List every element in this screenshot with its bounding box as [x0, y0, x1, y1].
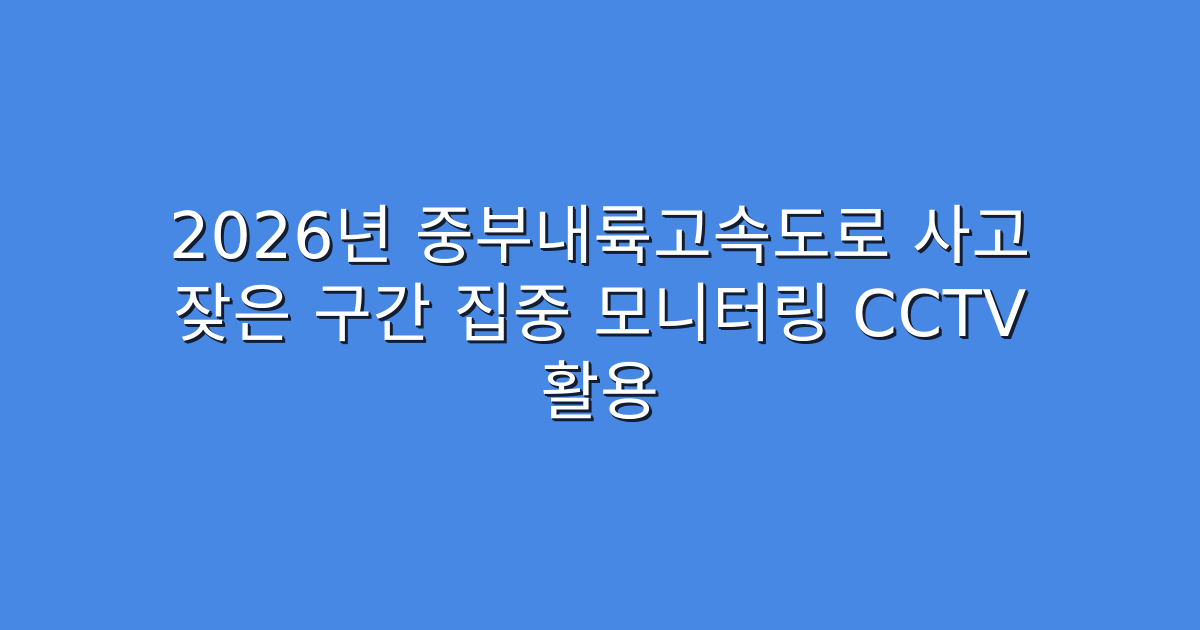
share-card: 2026년 중부내륙고속도로 사고 잦은 구간 집중 모니터링 CCTV 활용 — [0, 0, 1200, 630]
page-title: 2026년 중부내륙고속도로 사고 잦은 구간 집중 모니터링 CCTV 활용 — [120, 198, 1080, 432]
